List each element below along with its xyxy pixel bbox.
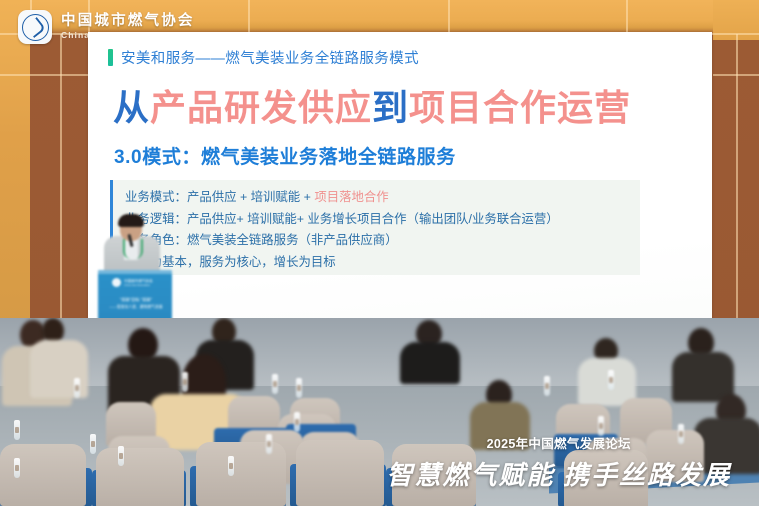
content-line: 安全为基本，服务为核心，增长为目标 <box>125 252 630 274</box>
content-line-highlight: 项目落地合作 <box>314 190 388 204</box>
audience-person <box>470 402 530 450</box>
headline-segment-1: 从 <box>113 87 150 128</box>
water-bottle <box>608 370 614 390</box>
wall-seam <box>448 0 450 34</box>
water-bottle <box>294 412 300 432</box>
slide-kicker-text: 安美和服务——燃气美装业务全链路服务模式 <box>121 47 419 68</box>
audience-chair <box>196 442 286 506</box>
lectern-slogan-line1: "双碳"目标 "双碳" <box>108 296 164 303</box>
water-bottle <box>678 424 684 444</box>
slide-content-box: 业务模式：产品供应 + 培训赋能 + 项目落地合作 业务逻辑：产品供应+ 培训赋… <box>110 180 640 275</box>
wall-seam <box>626 0 628 34</box>
content-line-body: 燃气美装全链路服务（非产品供应商） <box>187 233 398 247</box>
water-bottle <box>90 434 96 454</box>
lectern-slogan-line2: ——智慧化人居、建筑燃气发展 <box>104 304 168 310</box>
audience-chair <box>0 444 86 506</box>
speaker-lanyard <box>123 239 143 259</box>
conference-photo: 中国城市燃气协会 China Gas Association 安美和服务——燃气… <box>0 0 759 506</box>
emblem-ring-icon <box>22 14 49 41</box>
lectern-top-edge <box>98 270 172 274</box>
water-bottle <box>14 458 20 478</box>
projection-slide: 安美和服务——燃气美装业务全链路服务模式 从产品研发供应到项目合作运营 3.0模… <box>88 32 712 337</box>
audience-chair <box>646 430 704 482</box>
audience-area <box>0 318 759 506</box>
content-line-body: 产品供应 + 培训赋能 + <box>187 190 314 204</box>
slide-headline: 从产品研发供应到项目合作运营 <box>113 90 631 126</box>
lectern-brand-en: China Gas Association <box>124 284 150 287</box>
water-bottle <box>266 434 272 454</box>
content-line: 业务角色：燃气美装全链路服务（非产品供应商） <box>125 230 630 252</box>
water-bottle <box>544 376 550 396</box>
water-bottle <box>74 378 80 398</box>
wall-seam <box>248 0 250 34</box>
slide-subheadline: 3.0模式：燃气美装业务落地全链路服务 <box>114 142 456 169</box>
headline-segment-4: 项目合作运营 <box>409 87 631 128</box>
slide-kicker: 安美和服务——燃气美装业务全链路服务模式 <box>108 47 419 68</box>
emblem-swoosh-icon <box>24 16 45 37</box>
headline-segment-3: 到 <box>372 87 409 128</box>
audience-person <box>400 342 460 384</box>
content-line: 业务模式：产品供应 + 培训赋能 + 项目落地合作 <box>125 187 630 209</box>
kicker-accent-bar <box>108 49 113 66</box>
water-bottle <box>598 416 604 436</box>
wall-seam <box>60 34 62 340</box>
wall-seam <box>736 34 738 340</box>
wall-left-panel <box>0 0 30 340</box>
association-emblem-icon <box>18 10 52 44</box>
content-line: 业务逻辑：产品供应+ 培训赋能+ 业务增长项目合作（输出团队/业务联合运营） <box>125 209 630 231</box>
content-line-body: 产品供应+ 培训赋能+ 业务增长项目合作（输出团队/业务联合运营） <box>187 212 559 226</box>
slide-canvas: 安美和服务——燃气美装业务全链路服务模式 从产品研发供应到项目合作运营 3.0模… <box>88 32 712 337</box>
water-bottle <box>118 446 124 466</box>
audience-chair <box>96 448 184 506</box>
water-bottle <box>14 420 20 440</box>
audience-chair <box>296 440 384 506</box>
lectern-logo-icon <box>112 278 121 287</box>
speaker-hair <box>118 214 144 227</box>
content-line-label: 业务模式： <box>125 190 187 204</box>
headline-segment-2: 产品研发供应 <box>150 87 372 128</box>
water-bottle <box>228 456 234 476</box>
association-name-cn: 中国城市燃气协会 <box>61 13 195 29</box>
audience-chair <box>564 450 648 506</box>
wall-seam <box>0 74 92 76</box>
audience-chair <box>392 444 476 506</box>
water-bottle <box>272 374 278 394</box>
water-bottle <box>296 378 302 398</box>
water-bottle <box>182 372 188 392</box>
